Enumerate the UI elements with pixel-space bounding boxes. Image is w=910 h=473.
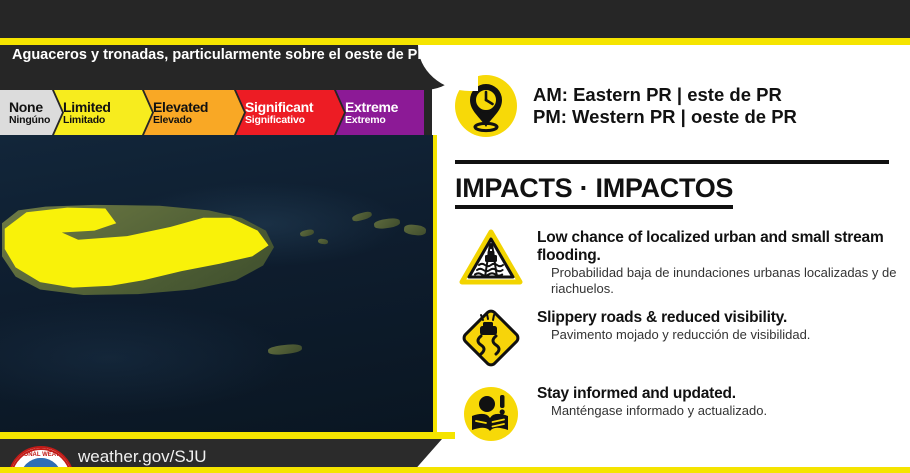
stay-informed-icon xyxy=(459,383,523,445)
impact-text: Slippery roads & reduced visibility. Pav… xyxy=(537,307,810,343)
header-band xyxy=(0,0,910,38)
map-right-edge xyxy=(433,135,437,432)
page-subtitle: Aguaceros y tronadas, particularmente so… xyxy=(12,47,432,64)
risk-level-significant[interactable]: Significant Significativo xyxy=(236,90,344,135)
risk-level-significant-label-en: Significant xyxy=(245,100,344,114)
impacts-heading: IMPACTS · IMPACTOS xyxy=(455,173,733,209)
impact-text-es: Pavimento mojado y reducción de visibili… xyxy=(537,327,810,343)
risk-level-none[interactable]: None Ningúno xyxy=(0,90,62,135)
impact-item-slippery-roads: Slippery roads & reduced visibility. Pav… xyxy=(459,307,909,369)
timing-am-line: AM: Eastern PR | este de PR xyxy=(533,84,797,106)
risk-level-significant-label-es: Significativo xyxy=(245,114,344,126)
impact-text-es: Manténgase informado y actualizado. xyxy=(537,403,767,419)
timing-pm-line: PM: Western PR | oeste de PR xyxy=(533,106,797,128)
risk-level-extreme-label-es: Extremo xyxy=(345,114,424,126)
timing-text: AM: Eastern PR | este de PR PM: Western … xyxy=(533,84,797,128)
section-divider xyxy=(455,160,889,164)
impact-text: Stay informed and updated. Manténgase in… xyxy=(537,383,767,419)
info-panel: AM: Eastern PR | este de PR PM: Western … xyxy=(437,45,910,467)
hazard-map[interactable] xyxy=(0,135,437,432)
bottom-accent-strip xyxy=(0,467,910,473)
risk-level-elevated[interactable]: Elevated Elevado xyxy=(144,90,244,135)
risk-level-extreme[interactable]: Extreme Extremo xyxy=(336,90,424,135)
impact-text-en: Low chance of localized urban and small … xyxy=(537,229,909,265)
impact-item-stay-informed: Stay informed and updated. Manténgase in… xyxy=(459,383,909,445)
risk-level-limited-label-en: Limited xyxy=(63,100,152,114)
header-accent-rule xyxy=(0,38,910,45)
flooded-road-warning-icon xyxy=(459,227,523,289)
impact-text-en: Slippery roads & reduced visibility. xyxy=(537,309,810,327)
risk-level-none-label-en: None xyxy=(9,100,62,114)
risk-level-elevated-label-en: Elevated xyxy=(153,100,244,114)
footer-accent-rule xyxy=(0,432,455,439)
impact-text: Low chance of localized urban and small … xyxy=(537,227,909,297)
impact-text-en: Stay informed and updated. xyxy=(537,385,767,403)
slippery-road-icon xyxy=(459,307,523,369)
risk-scale: None Ningúno Limited Limitado Elevated E… xyxy=(0,90,432,135)
risk-level-elevated-label-es: Elevado xyxy=(153,114,244,126)
risk-level-limited[interactable]: Limited Limitado xyxy=(54,90,152,135)
impact-item-flooding: Low chance of localized urban and small … xyxy=(459,227,909,297)
risk-level-limited-label-es: Limitado xyxy=(63,114,152,126)
impact-text-es: Probabilidad baja de inundaciones urbana… xyxy=(537,265,909,297)
footer-url[interactable]: weather.gov/SJU xyxy=(78,447,207,467)
risk-level-extreme-label-en: Extreme xyxy=(345,100,424,114)
timing-row: AM: Eastern PR | este de PR PM: Western … xyxy=(455,75,797,137)
weather-briefing-graphic: Showers and t-storms this afternoon, par… xyxy=(0,0,910,473)
risk-level-none-label-es: Ningúno xyxy=(9,114,62,126)
